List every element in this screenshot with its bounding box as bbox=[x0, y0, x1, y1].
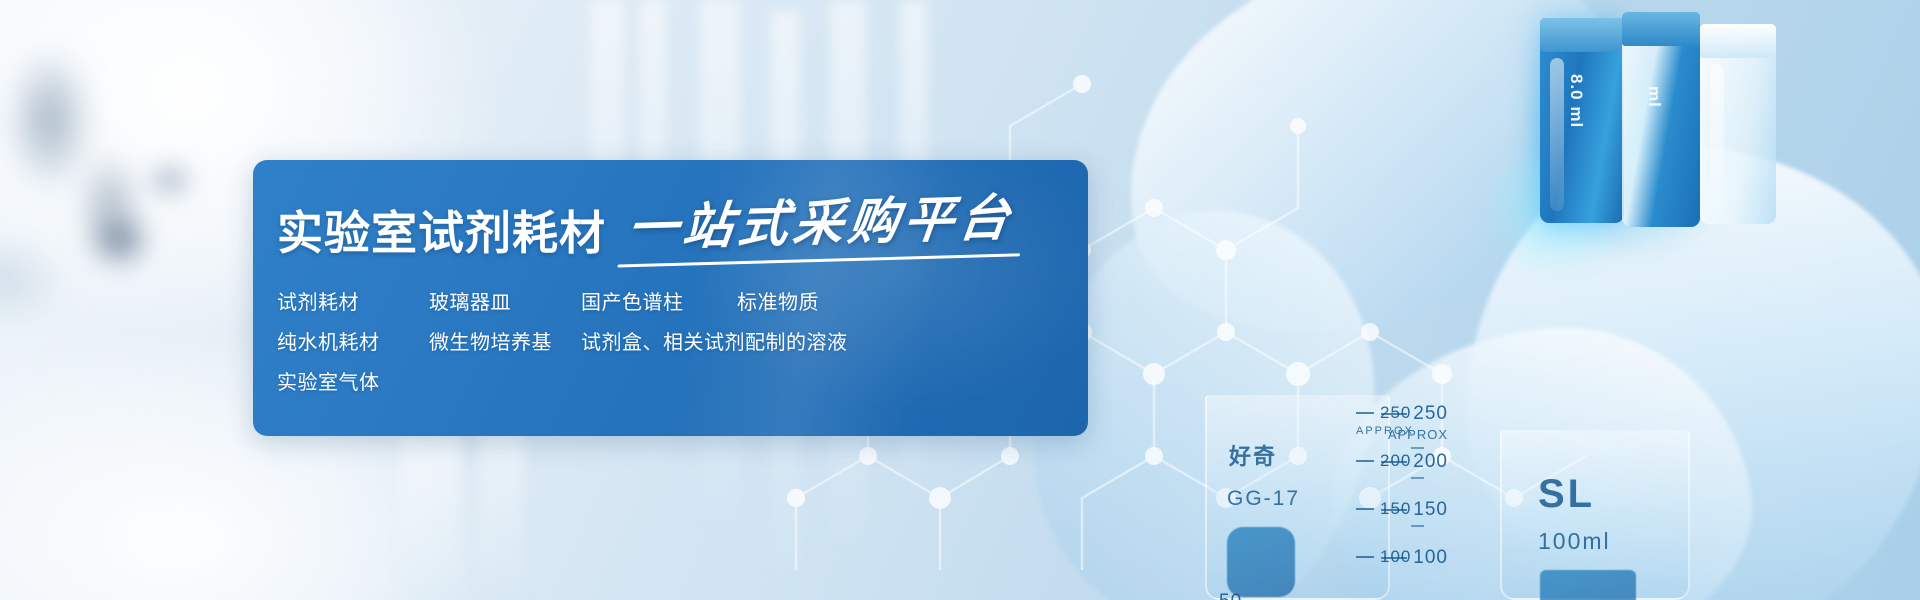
graduation-value: 150 bbox=[1413, 499, 1448, 521]
category-link-water-purifier-consumables[interactable]: 纯水机耗材 bbox=[277, 332, 429, 352]
promo-panel: 实验室试剂耗材 一站式采购平台 试剂耗材 玻璃器皿 国产色谱柱 标准物质 纯水机… bbox=[253, 160, 1088, 436]
beaker-brand-label: 好奇 bbox=[1229, 439, 1277, 471]
category-row: 试剂耗材 玻璃器皿 国产色谱柱 标准物质 bbox=[277, 292, 1088, 312]
background-glassware-column bbox=[400, 430, 460, 600]
graduation-value: 250 bbox=[1380, 403, 1411, 423]
test-tube-cap bbox=[1540, 18, 1624, 52]
graduation-value: 50 bbox=[1219, 591, 1242, 600]
beaker-liquid-patch bbox=[1227, 527, 1295, 597]
test-tube-cap bbox=[1622, 12, 1700, 46]
gloved-hand-upper bbox=[1084, 0, 1676, 378]
category-link-laboratory-gases[interactable]: 实验室气体 bbox=[277, 372, 429, 392]
graduation-tick bbox=[1356, 556, 1374, 558]
beaker-approx-label: APPROX bbox=[1388, 427, 1448, 442]
category-row: 实验室气体 bbox=[277, 372, 1088, 392]
beaker-graduation-150: 150 bbox=[1381, 499, 1448, 521]
beaker-graduation-200: 200 bbox=[1356, 451, 1411, 471]
category-grid: 试剂耗材 玻璃器皿 国产色谱柱 标准物质 纯水机耗材 微生物培养基 试剂盒、相关… bbox=[277, 292, 1088, 392]
blurred-lab-equipment-left bbox=[20, 120, 260, 380]
graduation-tick bbox=[1356, 460, 1374, 462]
beaker-primary: 好奇 GG-17 250 APPROX 200 150 100 bbox=[1205, 395, 1390, 600]
headline-brush-text: 一站式采购平台 bbox=[618, 192, 1023, 261]
graduation-tick bbox=[1356, 508, 1374, 510]
graduation-tick bbox=[1381, 413, 1407, 415]
category-row: 纯水机耗材 微生物培养基 试剂盒、相关试剂配制的溶液 bbox=[277, 332, 1088, 352]
category-link-glassware[interactable]: 玻璃器皿 bbox=[429, 292, 581, 312]
category-link-reagent-kits-and-solutions[interactable]: 试剂盒、相关试剂配制的溶液 bbox=[581, 332, 848, 352]
test-tube-cap bbox=[1700, 24, 1776, 58]
beaker-capacity-label: 100ml bbox=[1538, 528, 1611, 555]
graduation-tick bbox=[1356, 412, 1374, 414]
headline-main-text: 实验室试剂耗材 bbox=[277, 210, 606, 256]
graduation-tick bbox=[1381, 509, 1407, 511]
category-link-reference-materials[interactable]: 标准物质 bbox=[737, 292, 819, 312]
graduation-tick-minor bbox=[1411, 477, 1424, 479]
beaker-graduation-100: 100 bbox=[1356, 547, 1411, 567]
lab-reagent-banner: 8.0 ml ml 好奇 GG-17 250 APPROX 200 bbox=[0, 0, 1920, 600]
beaker-graduation-250: 250 bbox=[1381, 403, 1448, 425]
beaker-brand-label: SL bbox=[1538, 472, 1595, 517]
beaker-rear-scale: 250 APPROX 200 150 100 bbox=[1356, 395, 1396, 600]
beaker-secondary: SL 100ml bbox=[1500, 430, 1690, 600]
graduation-value: 150 bbox=[1380, 499, 1411, 519]
beaker-graduation-150: 150 bbox=[1356, 499, 1411, 519]
beaker-approx-label: APPROX bbox=[1356, 425, 1414, 437]
graduation-value: 250 bbox=[1413, 403, 1448, 425]
test-tube-highlight bbox=[1710, 64, 1724, 212]
graduation-value: 100 bbox=[1380, 547, 1411, 567]
beaker-body bbox=[1500, 430, 1690, 600]
category-link-reagent-consumables[interactable]: 试剂耗材 bbox=[277, 292, 429, 312]
test-tube-highlight bbox=[1550, 58, 1564, 211]
graduation-tick-minor bbox=[1411, 447, 1424, 449]
beaker-graduation-50: 50 bbox=[1193, 591, 1242, 600]
cyan-highlight-glow-secondary bbox=[1470, 150, 1640, 270]
test-tube-blue: 8.0 ml bbox=[1540, 18, 1624, 223]
category-link-microbial-culture-media[interactable]: 微生物培养基 bbox=[429, 332, 581, 352]
cyan-highlight-glow bbox=[1530, 30, 1760, 260]
beaker-graduation-250: 250 bbox=[1356, 403, 1411, 423]
graduation-tick bbox=[1381, 557, 1407, 559]
gloved-hand-lower bbox=[1314, 309, 1766, 600]
graduation-tick-minor bbox=[1411, 525, 1424, 527]
test-tube-clear bbox=[1700, 24, 1776, 224]
test-tube-filled: ml bbox=[1622, 12, 1700, 227]
headline: 实验室试剂耗材 一站式采购平台 bbox=[277, 198, 1088, 256]
graduation-value: 100 bbox=[1413, 547, 1448, 569]
category-link-domestic-chromatography-column[interactable]: 国产色谱柱 bbox=[581, 292, 737, 312]
gloved-hand-right bbox=[1440, 120, 1920, 600]
beaker-liquid-patch bbox=[1540, 570, 1636, 600]
beaker-model-label: GG-17 bbox=[1227, 487, 1300, 511]
beaker-body bbox=[1205, 395, 1390, 600]
test-tube-graduation-label: 8.0 ml bbox=[1566, 74, 1586, 128]
graduation-value: 200 bbox=[1380, 451, 1411, 471]
beaker-graduation-200: 200 bbox=[1381, 451, 1448, 473]
graduation-value: 200 bbox=[1413, 451, 1448, 473]
graduation-tick bbox=[1381, 461, 1407, 463]
test-tube-graduation-label: ml bbox=[1644, 86, 1664, 108]
beaker-graduation-100: 100 bbox=[1381, 547, 1448, 569]
